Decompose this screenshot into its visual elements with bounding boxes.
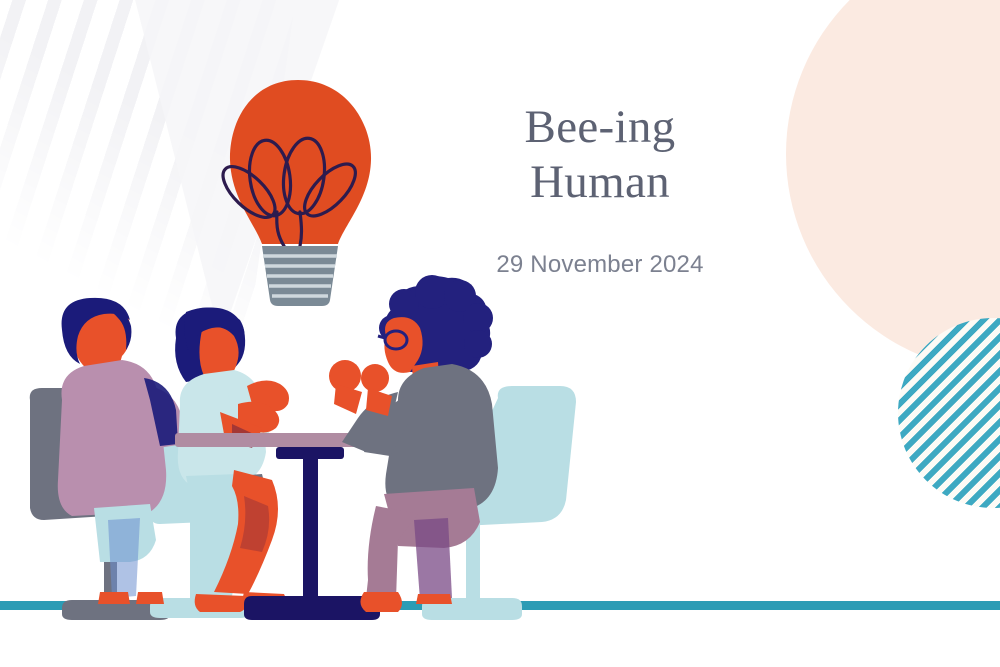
triangle-wedge-decoration bbox=[120, 0, 360, 340]
table bbox=[175, 433, 420, 620]
chair-middle bbox=[150, 418, 252, 618]
lightbulb-icon bbox=[215, 80, 371, 306]
slide-canvas: Bee-ing Human 29 November 2024 bbox=[0, 0, 1000, 667]
diagonal-stripes-decoration bbox=[0, 0, 298, 402]
floor-line-decoration bbox=[0, 601, 1000, 610]
page-title: Bee-ing Human bbox=[430, 100, 770, 209]
peach-circle-decoration bbox=[786, 0, 1000, 372]
person-right bbox=[329, 275, 498, 612]
chair-right bbox=[422, 386, 576, 620]
person-middle bbox=[175, 307, 289, 612]
person-left bbox=[58, 298, 184, 604]
title-block: Bee-ing Human 29 November 2024 bbox=[430, 100, 770, 279]
chair-left bbox=[30, 388, 170, 620]
slide-date: 29 November 2024 bbox=[430, 251, 770, 279]
teal-striped-circle-decoration bbox=[898, 318, 1000, 508]
